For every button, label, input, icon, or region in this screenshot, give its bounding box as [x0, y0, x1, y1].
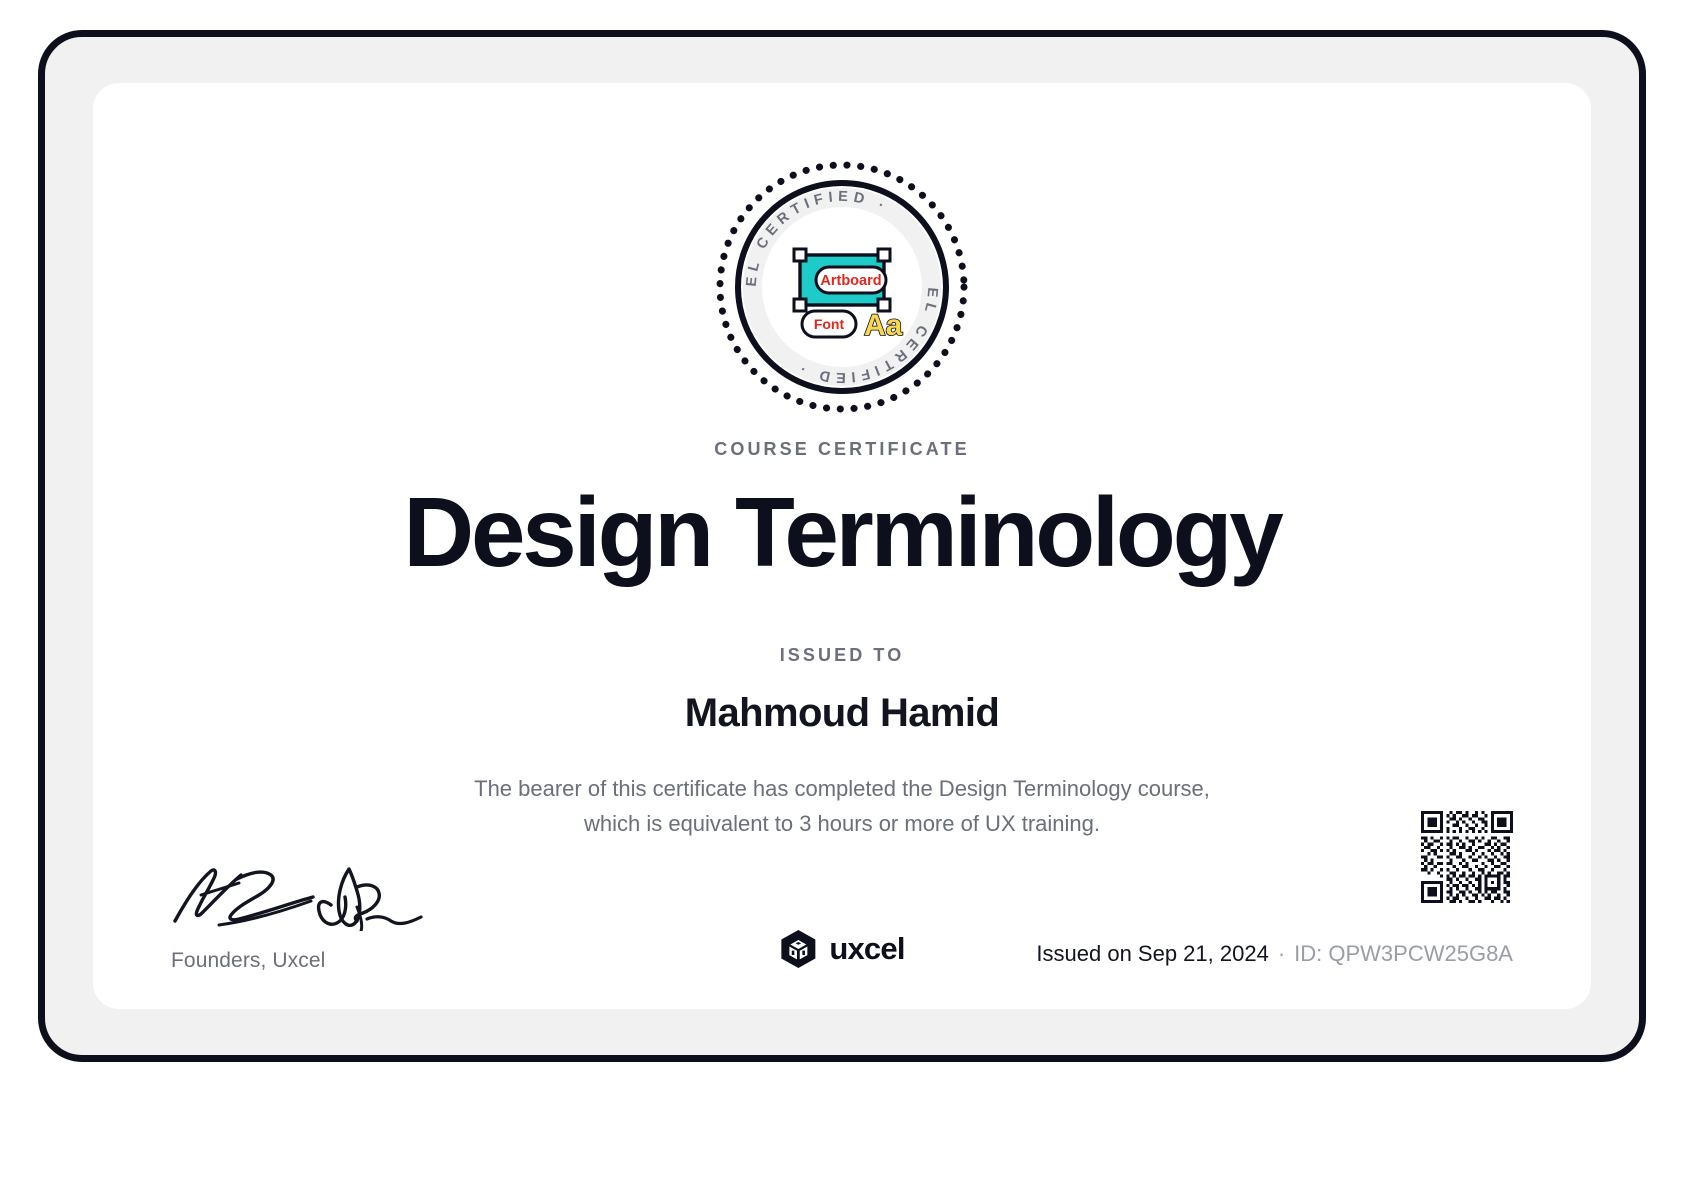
description-line-2: which is equivalent to 3 hours or more o…	[584, 811, 1100, 836]
issue-separator: ·	[1269, 941, 1294, 966]
uxcel-brand-logo: uxcel	[779, 929, 904, 969]
founders-signature-icon	[171, 839, 453, 931]
signature-caption: Founders, Uxcel	[171, 949, 501, 973]
font-pill-label: Font	[814, 316, 845, 332]
certificate-description: The bearer of this certificate has compl…	[412, 771, 1272, 841]
issue-info: Issued on Sep 21, 2024·ID: QPW3PCW25G8A	[1036, 941, 1513, 967]
type-sample-label: Aa	[864, 309, 903, 342]
course-certificate-eyebrow: COURSE CERTIFICATE	[93, 439, 1591, 460]
issued-to-eyebrow: ISSUED TO	[93, 645, 1591, 666]
uxcel-wordmark: uxcel	[829, 931, 904, 967]
uxcel-certified-seal: UXCEL CERTIFIED · UXCEL CERTIFIED · Artb…	[710, 155, 974, 419]
description-line-1: The bearer of this certificate has compl…	[474, 776, 1210, 801]
certificate-outer-frame: UXCEL CERTIFIED · UXCEL CERTIFIED · Artb…	[38, 30, 1646, 1062]
verification-qr-code[interactable]	[1421, 811, 1513, 903]
artboard-pill-label: Artboard	[820, 273, 881, 289]
signature-block: Founders, Uxcel	[171, 839, 501, 973]
issued-on-date: Issued on Sep 21, 2024	[1036, 941, 1268, 966]
certificate-card: UXCEL CERTIFIED · UXCEL CERTIFIED · Artb…	[93, 83, 1591, 1009]
recipient-name: Mahmoud Hamid	[93, 691, 1591, 736]
artboard-icon: Artboard	[794, 249, 890, 311]
certificate-id: ID: QPW3PCW25G8A	[1294, 941, 1513, 966]
uxcel-hexagon-icon	[779, 929, 817, 969]
page-title: Design Terminology	[93, 481, 1591, 585]
